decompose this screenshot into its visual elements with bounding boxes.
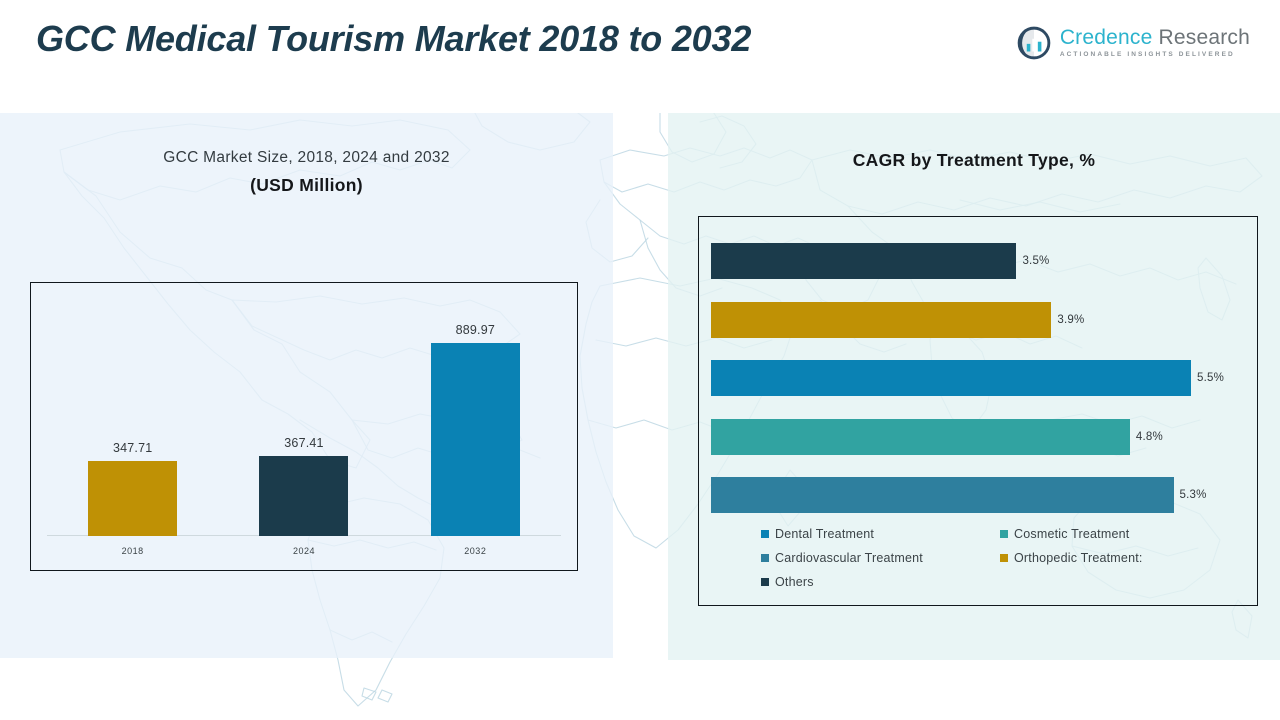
legend-item[interactable]: Others bbox=[761, 575, 1000, 589]
horizontal-bar-value-label: 3.9% bbox=[1057, 314, 1084, 326]
column-value-label: 367.41 bbox=[284, 436, 323, 450]
legend-item-label: Orthopedic Treatment: bbox=[1014, 551, 1143, 565]
brand-tagline: Actionable Insights Delivered bbox=[1060, 52, 1250, 59]
horizontal-bar-chart: 3.5% 3.9% 5.5% 4.8% 5.3% Dental Tr bbox=[698, 216, 1258, 606]
brand-name: Credence Research bbox=[1060, 27, 1250, 48]
column-bar[interactable] bbox=[431, 343, 520, 536]
right-chart-heading: CAGR by Treatment Type, % bbox=[668, 150, 1280, 171]
horizontal-bar-value-label: 5.5% bbox=[1197, 372, 1224, 384]
legend-swatch-icon bbox=[1000, 530, 1008, 538]
column-chart: 347.71 367.41 889.97 2018 2024 2032 bbox=[30, 282, 578, 571]
column-item[interactable]: 347.71 bbox=[47, 297, 218, 536]
left-chart-heading-line2: (USD Million) bbox=[0, 175, 613, 196]
column-category-label: 2018 bbox=[47, 546, 218, 556]
legend-swatch-icon bbox=[761, 578, 769, 586]
horizontal-bar-row[interactable]: 3.9% bbox=[711, 302, 1245, 338]
legend-swatch-icon bbox=[1000, 554, 1008, 562]
column-category-label: 2032 bbox=[390, 546, 561, 556]
legend-swatch-icon bbox=[761, 554, 769, 562]
legend-item-label: Dental Treatment bbox=[775, 527, 874, 541]
horizontal-bar-row[interactable]: 3.5% bbox=[711, 243, 1245, 279]
column-category-label: 2024 bbox=[218, 546, 389, 556]
brand-name-part1: Credence bbox=[1060, 26, 1153, 49]
horizontal-bar-row[interactable]: 4.8% bbox=[711, 419, 1245, 455]
legend-item-label: Cardiovascular Treatment bbox=[775, 551, 923, 565]
legend-swatch-icon bbox=[761, 530, 769, 538]
bar-chart-circle-icon bbox=[1017, 26, 1051, 60]
column-bar[interactable] bbox=[88, 461, 177, 536]
chart-legend: Dental Treatment Cosmetic Treatment Card… bbox=[761, 527, 1239, 589]
page-header: GCC Medical Tourism Market 2018 to 2032 … bbox=[0, 0, 1280, 113]
horizontal-bar[interactable] bbox=[711, 243, 1016, 279]
right-chart-panel: CAGR by Treatment Type, % 3.5% 3.9% 5.5%… bbox=[668, 113, 1280, 660]
horizontal-bar[interactable] bbox=[711, 360, 1191, 396]
left-chart-heading: GCC Market Size, 2018, 2024 and 2032 (US… bbox=[0, 149, 613, 196]
left-chart-panel: GCC Market Size, 2018, 2024 and 2032 (US… bbox=[0, 113, 613, 658]
legend-item-label: Others bbox=[775, 575, 814, 589]
left-chart-heading-line1: GCC Market Size, 2018, 2024 and 2032 bbox=[0, 149, 613, 167]
brand-text: Credence Research Actionable Insights De… bbox=[1060, 27, 1250, 59]
horizontal-bar[interactable] bbox=[711, 302, 1051, 338]
column-chart-series: 347.71 367.41 889.97 bbox=[47, 297, 561, 536]
column-item[interactable]: 367.41 bbox=[218, 297, 389, 536]
horizontal-bar-value-label: 4.8% bbox=[1136, 431, 1163, 443]
page-title: GCC Medical Tourism Market 2018 to 2032 bbox=[36, 18, 751, 60]
horizontal-bar-row[interactable]: 5.5% bbox=[711, 360, 1245, 396]
horizontal-bar[interactable] bbox=[711, 419, 1130, 455]
horizontal-bar-value-label: 3.5% bbox=[1022, 255, 1049, 267]
brand-logo[interactable]: Credence Research Actionable Insights De… bbox=[1017, 26, 1250, 60]
legend-item[interactable]: Cardiovascular Treatment bbox=[761, 551, 1000, 565]
column-value-label: 347.71 bbox=[113, 441, 152, 455]
column-item[interactable]: 889.97 bbox=[390, 297, 561, 536]
legend-item[interactable]: Cosmetic Treatment bbox=[1000, 527, 1239, 541]
legend-item-label: Cosmetic Treatment bbox=[1014, 527, 1129, 541]
horizontal-bar-value-label: 5.3% bbox=[1180, 489, 1207, 501]
horizontal-bar-row[interactable]: 5.3% bbox=[711, 477, 1245, 513]
column-value-label: 889.97 bbox=[456, 323, 495, 337]
legend-item[interactable]: Orthopedic Treatment: bbox=[1000, 551, 1239, 565]
column-chart-category-axis: 2018 2024 2032 bbox=[47, 540, 561, 562]
horizontal-bar[interactable] bbox=[711, 477, 1174, 513]
column-bar[interactable] bbox=[259, 456, 348, 536]
column-chart-plot-area: 347.71 367.41 889.97 2018 2024 2032 bbox=[31, 283, 577, 570]
legend-item[interactable]: Dental Treatment bbox=[761, 527, 1000, 541]
horizontal-bar-series: 3.5% 3.9% 5.5% 4.8% 5.3% bbox=[711, 243, 1245, 513]
brand-name-part2: Research bbox=[1159, 26, 1250, 49]
